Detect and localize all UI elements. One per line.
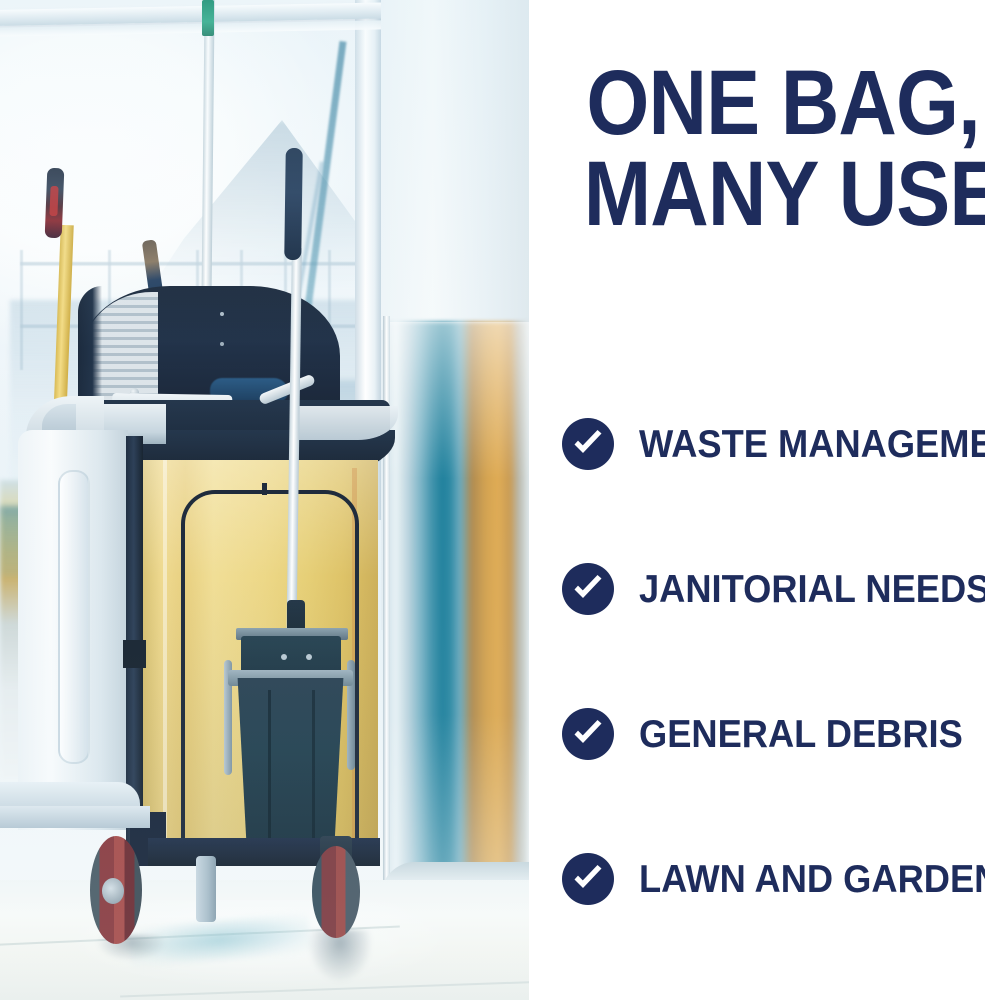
bucket-seam-2 (312, 690, 315, 840)
feature-item-waste-management: WASTE MANAGEMENT (562, 414, 985, 474)
headline-line-2: MANY USES. (584, 149, 984, 240)
feature-item-janitorial-needs: JANITORIAL NEEDS (562, 559, 985, 619)
promo-graphic: ONE BAG, MANY USES. WASTE MANAGEMENT J (0, 0, 985, 1000)
broom-grip-red-accent (49, 186, 58, 216)
wringer-screw (281, 654, 287, 660)
cart-wheel-left-hub (102, 878, 124, 904)
check-circle-icon (562, 563, 614, 615)
cart-wheel-right (312, 846, 360, 938)
feature-label: WASTE MANAGEMENT (639, 425, 985, 464)
cart-hood-screw-2 (220, 342, 224, 346)
mop-handle-green-tip (202, 0, 214, 36)
feature-label: LAWN AND GARDEN (639, 860, 985, 899)
bag-zipper-pull (262, 483, 267, 495)
interior-wall-panel (381, 0, 529, 340)
headline-line-1: ONE BAG, (584, 58, 984, 149)
cart-hood-screw (220, 312, 224, 316)
check-circle-icon (562, 418, 614, 470)
feature-label: JANITORIAL NEEDS (639, 570, 985, 609)
caster-stem (196, 856, 216, 922)
content-panel: ONE BAG, MANY USES. WASTE MANAGEMENT J (529, 0, 985, 1000)
cart-shelf-lip-right (290, 406, 398, 440)
bag-fold-highlight (163, 460, 167, 850)
check-circle-icon (562, 708, 614, 760)
headline: ONE BAG, MANY USES. (584, 58, 985, 240)
feature-item-general-debris: GENERAL DEBRIS (562, 704, 985, 764)
mop-pole-front-grip (284, 148, 303, 260)
cart-side-handle-slot (58, 470, 90, 764)
mop-bucket (233, 678, 348, 850)
wheel-shadow-right (308, 930, 372, 982)
product-photo (0, 0, 529, 1000)
cart-frame-post-band (123, 640, 146, 668)
feature-item-lawn-and-garden: LAWN AND GARDEN (562, 849, 985, 909)
feature-list: WASTE MANAGEMENT JANITORIAL NEEDS GENERA… (562, 414, 985, 909)
glass-column-sheen (386, 322, 529, 882)
cart-foot-plate-lower (0, 806, 150, 828)
bucket-seam (268, 690, 271, 840)
check-circle-icon (562, 853, 614, 905)
feature-label: GENERAL DEBRIS (639, 715, 963, 754)
wringer-screw-2 (306, 654, 312, 660)
cart-hood-rim (78, 286, 102, 410)
